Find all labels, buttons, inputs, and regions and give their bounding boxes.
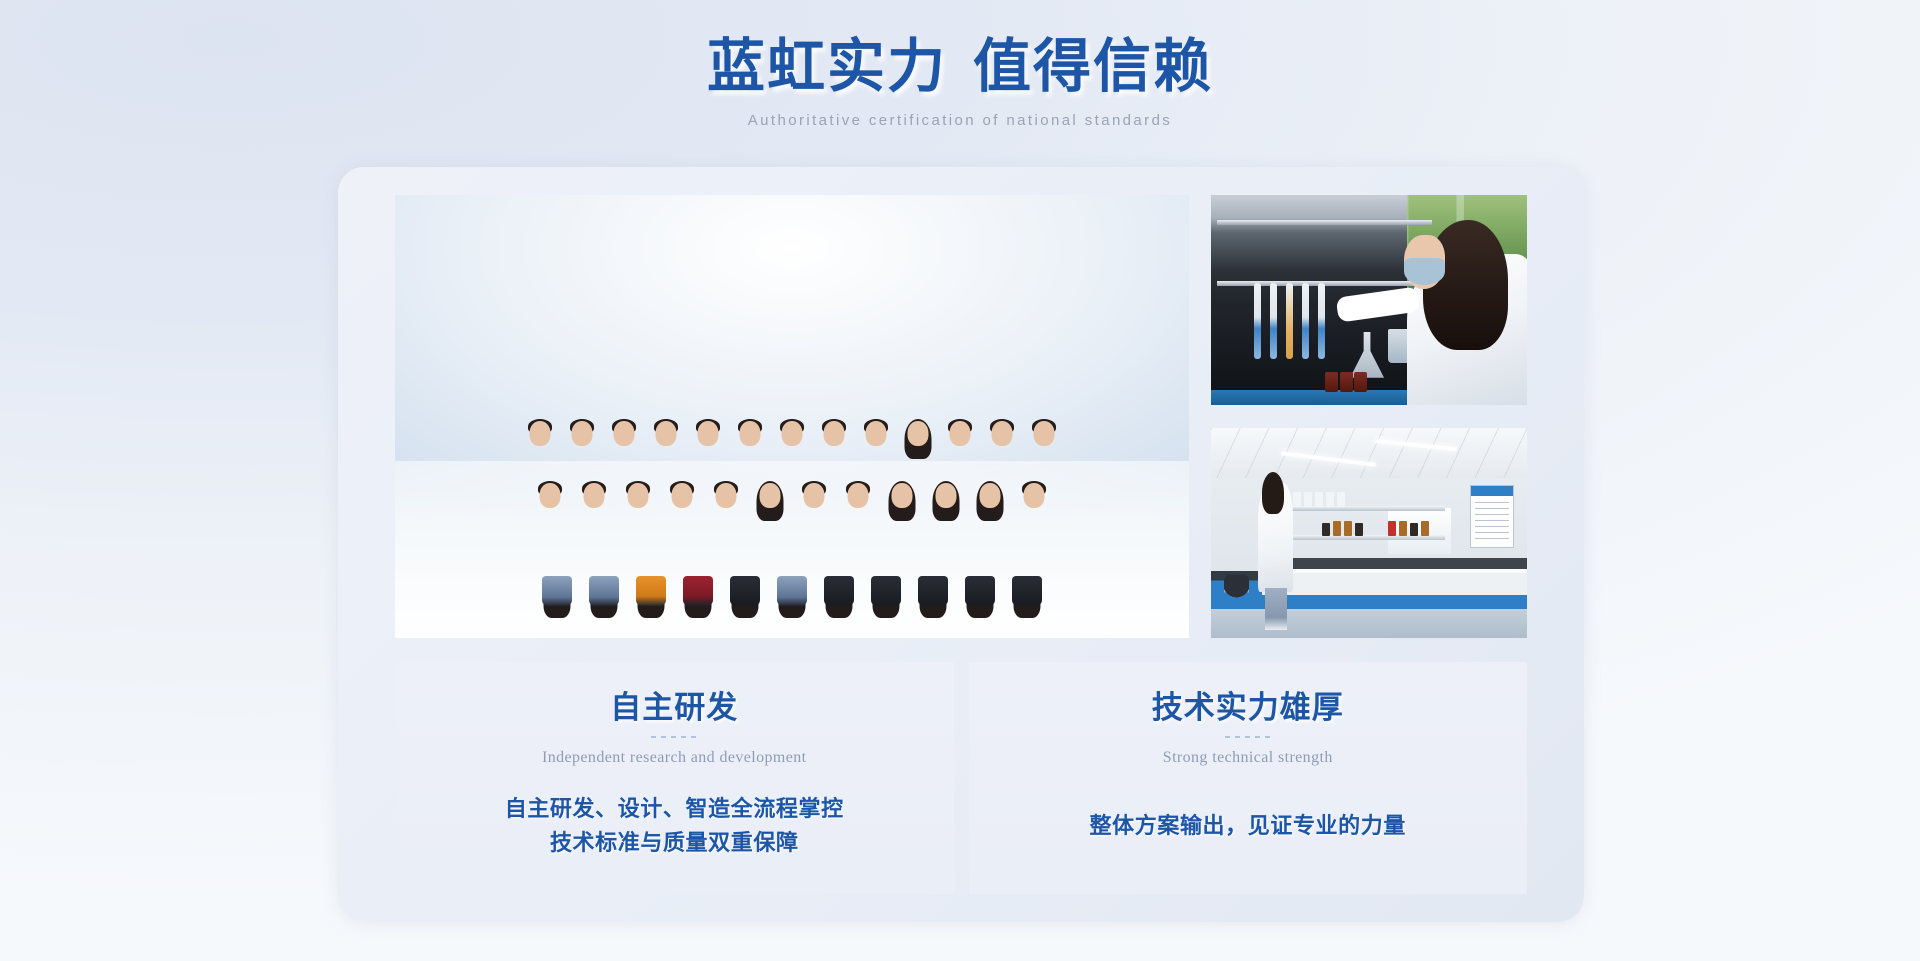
reagent-bottles [1325,370,1367,392]
card-english-subtitle: Independent research and development [395,749,954,767]
lab-photo-bottom [1211,428,1527,638]
group-photo [395,195,1189,638]
group-photo-people [395,195,1189,638]
laboratory-room-scene [1211,428,1527,638]
lab-stool [1224,575,1249,613]
page-root: 蓝虹实力值得信赖 Authoritative certification of … [0,0,1920,961]
card-title: 自主研发 [395,682,954,727]
safety-notice-poster [1470,485,1514,548]
page-subtitle: Authoritative certification of national … [0,112,1920,129]
feature-card-technical-strength: 技术实力雄厚 Strong technical strength 整体方案输出，… [969,662,1528,894]
content-panel: 自主研发 Independent research and developmen… [338,167,1584,922]
technician-mask [1404,258,1445,285]
glassware-group-1 [1293,491,1345,507]
lab-photo-top [1211,195,1527,405]
reagent-bottle-group-1 [1322,520,1363,536]
card-description-line-1: 自主研发、设计、智造全流程掌控 [395,792,954,826]
researcher-legs [1265,588,1287,630]
pipette-rack [1249,283,1337,359]
side-photo-column [1211,195,1527,638]
card-title: 技术实力雄厚 [969,682,1528,727]
card-english-subtitle: Strong technical strength [969,749,1528,767]
page-title-part1: 蓝虹实力 [707,34,947,99]
card-description: 自主研发、设计、智造全流程掌控 技术标准与质量双重保障 [395,792,954,861]
media-gallery [395,195,1527,638]
card-description-line-2: 技术标准与质量双重保障 [395,826,954,860]
researcher-hair [1262,472,1284,514]
card-divider-dashes [651,736,697,738]
card-description: 整体方案输出，见证专业的力量 [969,809,1528,843]
lab-technician-scene [1211,195,1527,405]
people-row-front [395,394,1189,580]
group-photo-backdrop [395,195,1189,638]
feature-card-independent-rd: 自主研发 Independent research and developmen… [395,662,954,894]
card-description-line-1: 整体方案输出，见证专业的力量 [969,809,1528,843]
reagent-bottle-group-2 [1388,520,1429,536]
lab-floor [1211,609,1527,638]
page-title-part2: 值得信赖 [973,34,1213,99]
lab-rail-upper [1217,220,1432,225]
card-divider-dashes [1225,736,1271,738]
feature-cards: 自主研发 Independent research and developmen… [395,662,1527,894]
lab-ceiling [1211,428,1527,483]
page-title: 蓝虹实力值得信赖 [0,30,1920,104]
page-header: 蓝虹实力值得信赖 Authoritative certification of … [0,0,1920,129]
